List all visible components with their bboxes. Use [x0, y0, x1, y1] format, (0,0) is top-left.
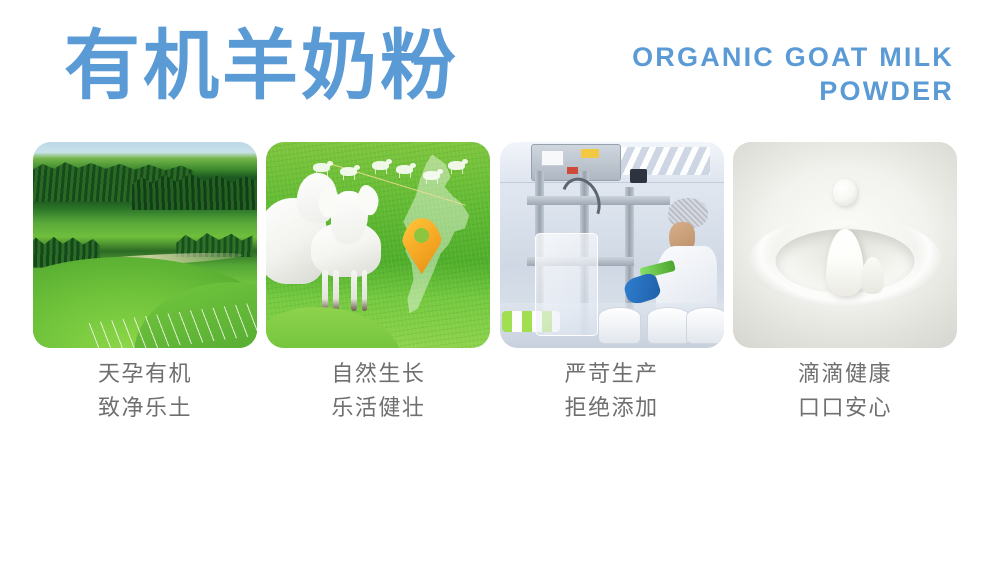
goats-photo	[266, 142, 490, 348]
product-tub	[686, 307, 724, 344]
feature-card-goats[interactable]	[266, 142, 490, 348]
caption-line-1: 严苛生产	[565, 362, 659, 387]
caption-goats: 自然生长 乐活健壮	[266, 358, 490, 426]
caption-milk-drop: 滴滴健康 口口安心	[733, 358, 957, 426]
feature-image-row	[33, 142, 957, 348]
caption-line-1: 自然生长	[331, 362, 425, 387]
caption-line-2: 口口安心	[733, 392, 957, 426]
caption-pasture: 天孕有机 致净乐土	[33, 358, 257, 426]
goat-leg	[351, 270, 357, 311]
distant-goat-icon	[423, 171, 440, 180]
glass-safety-guard	[535, 233, 598, 336]
promo-banner: 有机羊奶粉 ORGANIC GOAT MILK POWDER	[0, 0, 990, 577]
machine-red-indicator	[567, 167, 578, 175]
distant-goat-icon	[340, 167, 357, 176]
feature-card-pasture[interactable]	[33, 142, 257, 348]
caption-line-2: 乐活健壮	[266, 392, 490, 426]
goat-leg	[362, 270, 368, 311]
page-title-chinese: 有机羊奶粉	[64, 24, 459, 108]
caption-factory: 严苛生产 拒绝添加	[500, 358, 724, 426]
distant-goat-icon	[372, 161, 389, 170]
banner-header: 有机羊奶粉 ORGANIC GOAT MILK POWDER	[0, 0, 990, 132]
feature-card-factory[interactable]	[500, 142, 724, 348]
milk-drop-photo	[733, 142, 957, 348]
caption-line-2: 拒绝添加	[500, 392, 724, 426]
title-english-line-2: POWDER	[554, 74, 954, 108]
machine-warning-sticker	[581, 149, 599, 159]
feature-card-milk-drop[interactable]	[733, 142, 957, 348]
pasture-photo	[33, 142, 257, 348]
product-tub	[647, 307, 690, 344]
caption-line-1: 滴滴健康	[798, 362, 892, 387]
title-english-line-1: ORGANIC GOAT MILK	[554, 40, 954, 74]
map-pin-icon	[401, 218, 443, 274]
map-pin-body	[401, 218, 443, 274]
goat-leg	[333, 270, 339, 311]
product-tub	[598, 307, 641, 344]
goat-front-figure	[311, 191, 380, 310]
map-pin-hole	[414, 228, 429, 243]
distant-goat-icon	[396, 165, 413, 174]
machine-label	[541, 150, 564, 166]
factory-photo	[500, 142, 724, 348]
caption-line-1: 天孕有机	[98, 362, 192, 387]
feature-caption-row: 天孕有机 致净乐土 自然生长 乐活健壮 严苛生产 拒绝添加 滴滴健康 口口安心	[33, 358, 957, 426]
caption-line-2: 致净乐土	[33, 392, 257, 426]
control-panel	[630, 169, 648, 183]
page-title-english: ORGANIC GOAT MILK POWDER	[554, 40, 954, 108]
distant-goat-icon	[313, 163, 330, 172]
distant-goat-icon	[448, 161, 465, 170]
goat-leg	[322, 270, 328, 311]
milk-droplet-icon	[833, 179, 858, 206]
